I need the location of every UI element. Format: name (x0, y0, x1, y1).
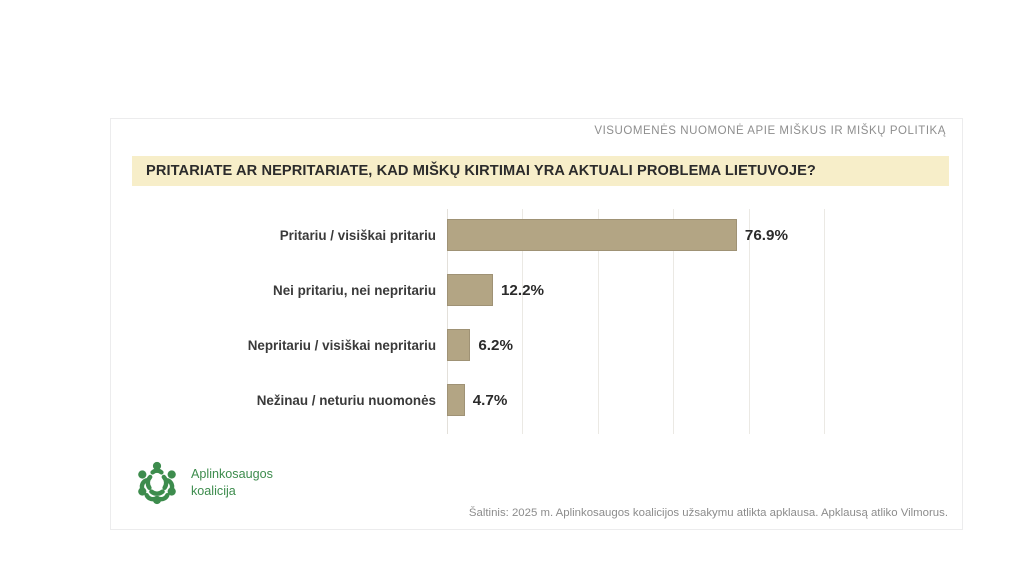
bar-category-label: Pritariu / visiškai pritariu (280, 228, 436, 243)
bar-value-label: 12.2% (501, 282, 544, 299)
bar-row: Nepritariu / visiškai nepritariu6.2% (447, 329, 513, 361)
brand-logo: Aplinkosaugos koalicija (131, 457, 273, 509)
page-title: PRITARIATE AR NEPRITARIATE, KAD MIŠKŲ KI… (146, 163, 816, 179)
bar-row: Nei pritariu, nei nepritariu12.2% (447, 274, 544, 306)
bar[interactable] (447, 274, 493, 306)
bar-category-label: Nepritariu / visiškai nepritariu (248, 338, 436, 353)
bar[interactable] (447, 329, 470, 361)
bar[interactable] (447, 219, 737, 251)
bar-row: Pritariu / visiškai pritariu76.9% (447, 219, 788, 251)
chart-title-band: PRITARIATE AR NEPRITARIATE, KAD MIŠKŲ KI… (132, 156, 949, 186)
source-note: Šaltinis: 2025 m. Aplinkosaugos koalicij… (469, 507, 948, 519)
coalition-ring-icon (131, 457, 183, 509)
bar-value-label: 4.7% (473, 392, 508, 409)
bar-category-label: Nei pritariu, nei nepritariu (273, 283, 436, 298)
bar[interactable] (447, 384, 465, 416)
plot-area: Pritariu / visiškai pritariu76.9%Nei pri… (447, 209, 824, 434)
bar-category-label: Nežinau / neturiu nuomonės (257, 393, 436, 408)
brand-name: Aplinkosaugos koalicija (191, 466, 273, 499)
gridline-100 (824, 209, 825, 434)
chart-card: VISUOMENĖS NUOMONĖ APIE MIŠKUS IR MIŠKŲ … (110, 118, 963, 530)
bar-row: Nežinau / neturiu nuomonės4.7% (447, 384, 507, 416)
bar-chart: Pritariu / visiškai pritariu76.9%Nei pri… (111, 209, 964, 439)
bar-value-label: 76.9% (745, 227, 788, 244)
bar-value-label: 6.2% (478, 337, 513, 354)
chart-kicker: VISUOMENĖS NUOMONĖ APIE MIŠKUS IR MIŠKŲ … (594, 125, 946, 137)
bar-rows: Pritariu / visiškai pritariu76.9%Nei pri… (447, 209, 824, 434)
